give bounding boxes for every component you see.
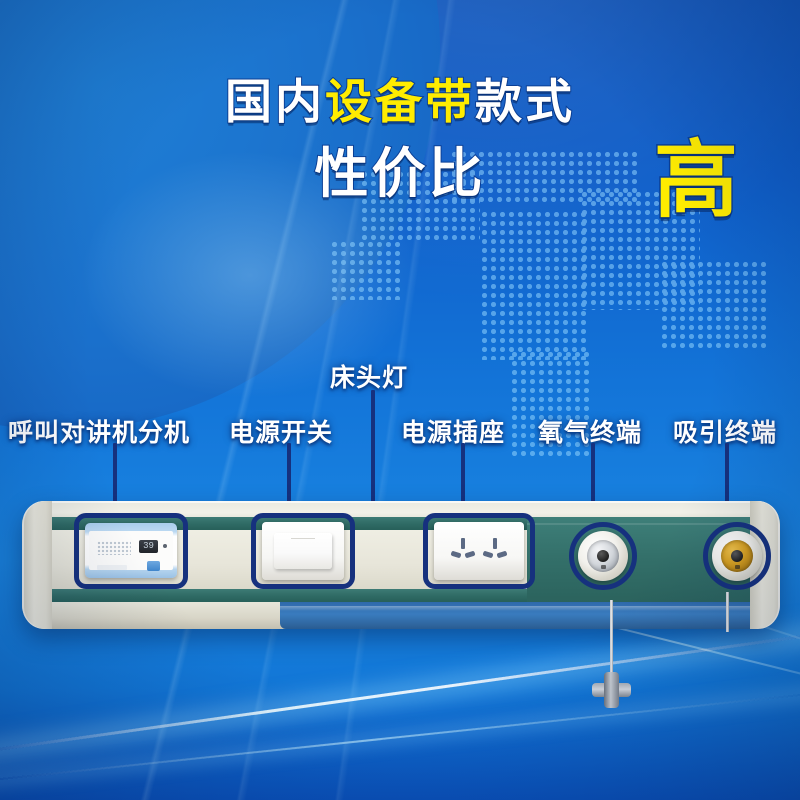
headline-seg-4: 性价比 bbox=[315, 144, 486, 204]
highlight-ring-suction bbox=[703, 522, 771, 590]
highlight-box-intercom bbox=[74, 513, 188, 589]
callout-label-socket: 电源插座 bbox=[401, 413, 505, 449]
headline-seg-3: 款式 bbox=[475, 75, 575, 128]
callout-label-intercom: 呼叫对讲机分机 bbox=[8, 413, 190, 449]
callout-label-switch: 电源开关 bbox=[229, 413, 333, 449]
highlight-box-socket bbox=[423, 513, 535, 589]
highlight-ring-oxygen bbox=[569, 522, 637, 590]
callout-label-lamp: 床头灯 bbox=[330, 358, 408, 394]
callout-label-oxygen: 氧气终端 bbox=[538, 413, 642, 449]
panel-blue-rail bbox=[280, 602, 780, 629]
poster-canvas: 国内设备带款式 性价比 高 呼叫对讲机分机 电源开关 床头灯 电源插座 氧气终端… bbox=[0, 0, 800, 800]
panel-end-cap-left bbox=[22, 501, 52, 629]
headline-seg-1: 国内 bbox=[225, 75, 325, 128]
secondary-pull-cord[interactable] bbox=[726, 592, 729, 632]
headline-line-1: 国内设备带款式 bbox=[0, 78, 800, 125]
highlight-box-switch bbox=[251, 513, 355, 589]
pull-cord-pendant-icon bbox=[604, 672, 619, 708]
headline-seg-2: 设备带 bbox=[325, 75, 475, 128]
headline-emphasis-gao: 高 bbox=[654, 138, 738, 222]
medical-bed-head-unit: 39 bbox=[22, 501, 780, 629]
